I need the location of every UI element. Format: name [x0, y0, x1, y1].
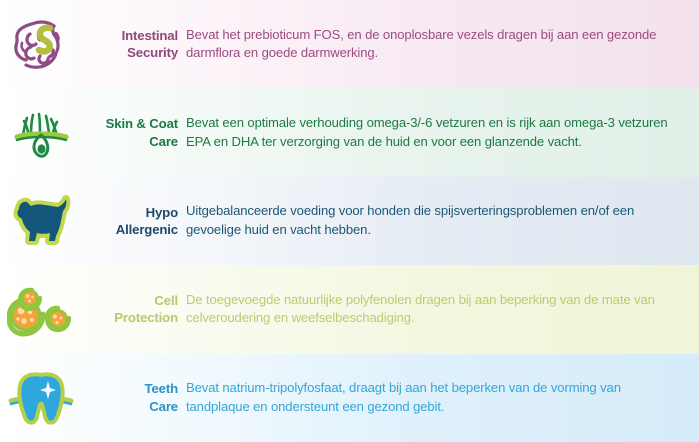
tooth-icon [0, 354, 82, 442]
product-benefits-list: Intestinal Security Bevat het prebioticu… [0, 0, 699, 442]
cells-icon [0, 265, 82, 353]
benefit-description-teeth-care: Bevat natrium-tripolyfosfaat, draagt bij… [186, 379, 699, 416]
benefit-title-line1: Intestinal [82, 27, 178, 44]
benefit-row-hypo-allergenic: Hypo Allergenic Uitgebalanceerde voeding… [0, 177, 699, 265]
benefit-title-line2: Allergenic [82, 221, 178, 238]
benefit-title-line2: Security [82, 44, 178, 61]
benefit-title-line2: Care [82, 133, 178, 150]
benefit-description-skin-and-coat-care: Bevat een optimale verhouding omega-3/-6… [186, 114, 699, 151]
benefit-row-cell-protection: Cell Protection De toegevoegde natuurlij… [0, 265, 699, 353]
hair-follicle-icon [0, 88, 82, 176]
benefit-title-cell-protection: Cell Protection [82, 292, 186, 327]
benefit-title-line2: Protection [82, 309, 178, 326]
benefit-title-line1: Skin & Coat [82, 115, 178, 132]
benefit-row-teeth-care: Teeth Care Bevat natrium-tripolyfosfaat,… [0, 354, 699, 442]
benefit-title-line1: Teeth [82, 380, 178, 397]
benefit-title-line1: Hypo [82, 204, 178, 221]
benefit-title-intestinal-security: Intestinal Security [82, 27, 186, 62]
benefit-title-teeth-care: Teeth Care [82, 380, 186, 415]
dog-icon [0, 177, 82, 265]
benefit-row-intestinal-security: Intestinal Security Bevat het prebioticu… [0, 0, 699, 88]
benefit-title-skin-and-coat-care: Skin & Coat Care [82, 115, 186, 150]
intestines-icon [0, 0, 82, 88]
benefit-title-line1: Cell [82, 292, 178, 309]
benefit-description-cell-protection: De toegevoegde natuurlijke polyfenolen d… [186, 291, 699, 328]
benefit-description-intestinal-security: Bevat het prebioticum FOS, en de onoplos… [186, 26, 699, 63]
benefit-title-line2: Care [82, 398, 178, 415]
benefit-title-hypo-allergenic: Hypo Allergenic [82, 204, 186, 239]
benefit-row-skin-and-coat-care: Skin & Coat Care Bevat een optimale verh… [0, 88, 699, 176]
benefit-description-hypo-allergenic: Uitgebalanceerde voeding voor honden die… [186, 202, 699, 239]
